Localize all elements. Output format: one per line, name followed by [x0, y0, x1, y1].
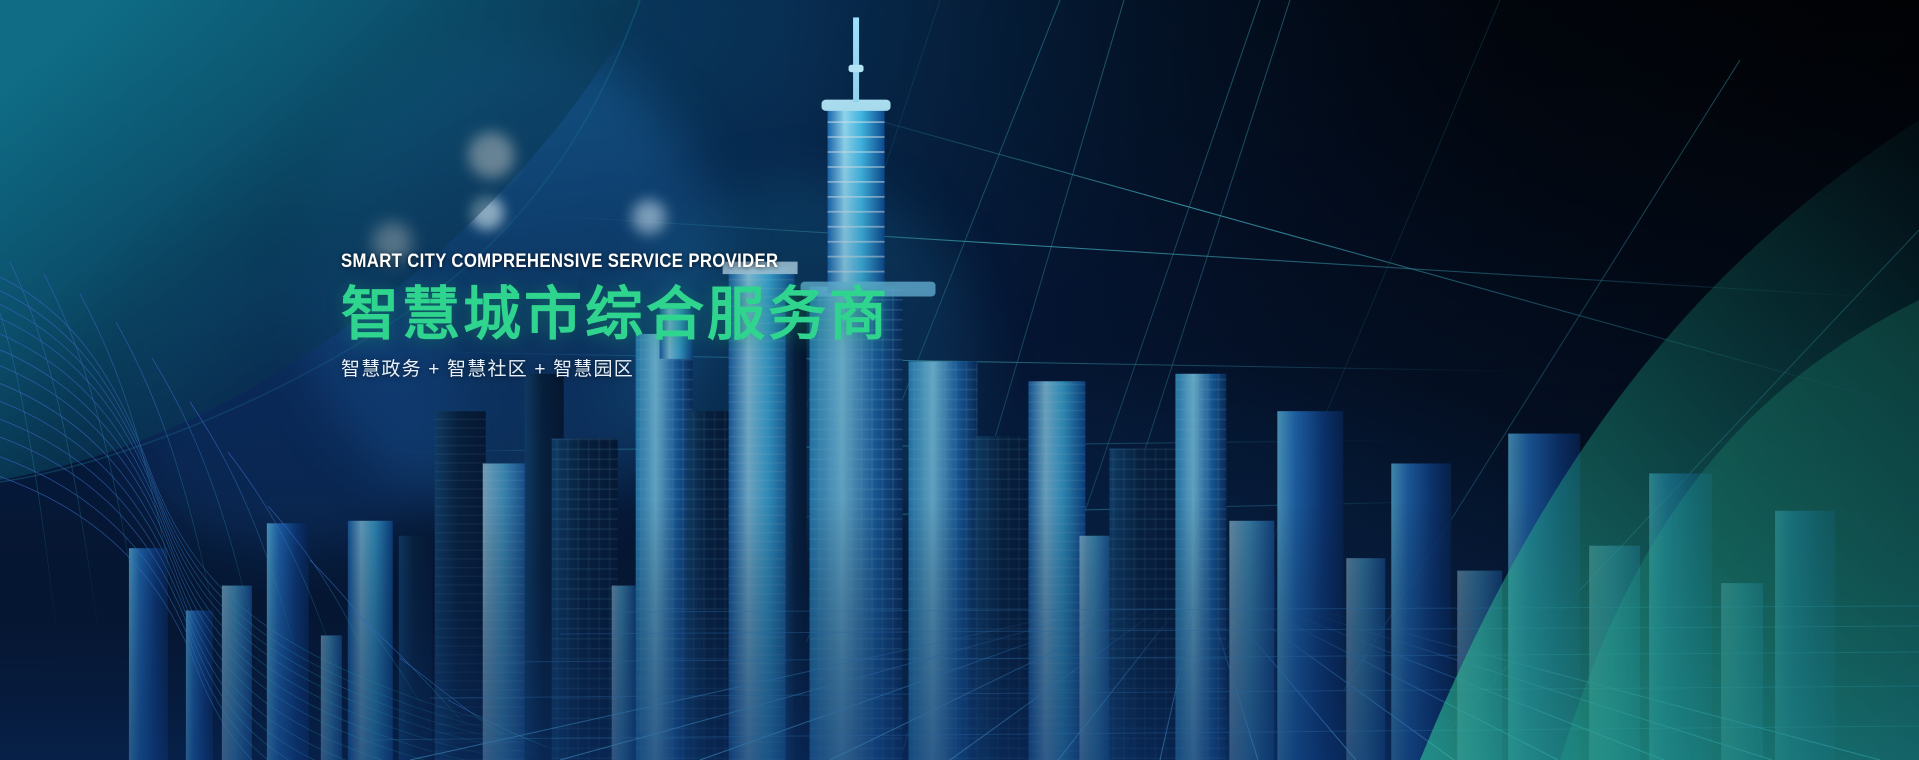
smart-city-hero-banner: SMART CITY COMPREHENSIVE SERVICE PROVIDE… [0, 0, 1919, 760]
eyebrow-text: SMART CITY COMPREHENSIVE SERVICE PROVIDE… [341, 252, 1010, 271]
hero-copy: SMART CITY COMPREHENSIVE SERVICE PROVIDE… [341, 252, 1101, 379]
line-mesh-decoration [0, 0, 1919, 760]
tagline-text: 智慧政务 + 智慧社区 + 智慧园区 [341, 360, 1101, 379]
page-title: 智慧城市综合服务商 [341, 285, 1101, 344]
